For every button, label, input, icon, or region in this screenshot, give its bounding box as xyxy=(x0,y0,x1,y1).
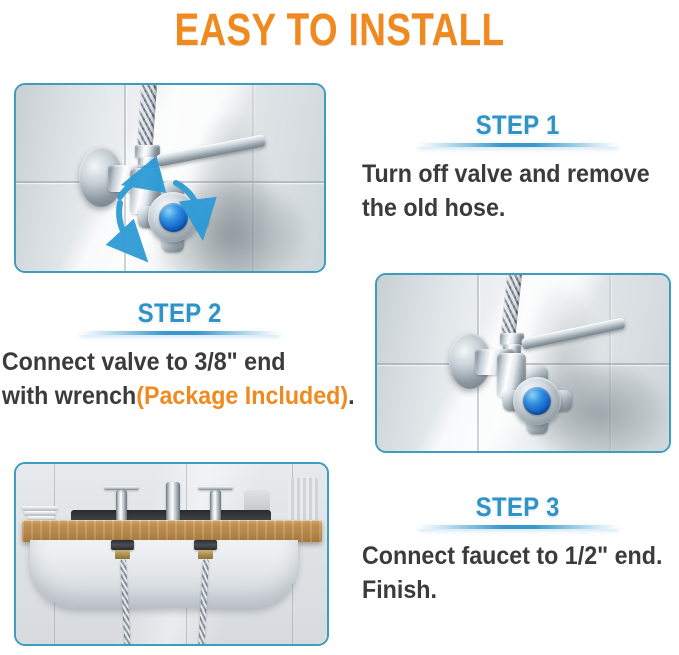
step-2-photo xyxy=(375,273,671,453)
step-2-body: Connect valve to 3/8" end with wrench(Pa… xyxy=(0,346,335,413)
stacked-plates xyxy=(24,511,56,515)
handle-blue-cap xyxy=(523,387,551,415)
connector-right xyxy=(194,540,217,550)
step-2-body-text: with wrench xyxy=(2,382,136,410)
connector-right-brass-nut xyxy=(198,550,213,559)
step-2-body-line-1: Connect valve to 3/8" end xyxy=(2,346,335,380)
step-3-photo xyxy=(14,462,329,646)
step-3-underline xyxy=(418,525,618,529)
step-3-text-block: STEP 3 Connect faucet to 1/2" end. Finis… xyxy=(362,492,674,607)
step-1-body-line-1: Turn off valve and remove xyxy=(362,158,652,192)
rotation-arrow-up xyxy=(120,179,144,197)
step-1-label-wrap: STEP 1 xyxy=(362,110,674,141)
connector-left xyxy=(111,540,134,550)
wooden-countertop xyxy=(22,520,322,542)
stacked-plates xyxy=(22,506,58,510)
step-1-body-line-2: the old hose. xyxy=(362,192,652,226)
step-2-label: STEP 2 xyxy=(138,298,222,329)
step-3-body-line-1: Connect faucet to 1/2" end. xyxy=(362,540,652,574)
faucet-left-body xyxy=(116,490,127,522)
page-title: EASY TO INSTALL xyxy=(61,4,618,56)
rotation-arrows xyxy=(16,85,326,273)
step-1-label: STEP 1 xyxy=(476,110,560,141)
step-3-body: Connect faucet to 1/2" end. Finish. xyxy=(362,540,652,607)
step-1-body: Turn off valve and remove the old hose. xyxy=(362,158,652,225)
faucet-left-cross-handle xyxy=(104,486,139,490)
faucet-right-body xyxy=(210,490,221,522)
sink-basin xyxy=(30,540,298,608)
rotation-arrow-right xyxy=(176,183,200,217)
step-3-body-line-2: Finish. xyxy=(362,574,652,608)
connector-left-brass-nut xyxy=(115,550,130,559)
step-3-label: STEP 3 xyxy=(476,492,560,523)
faucet-right-cross-handle xyxy=(198,486,233,490)
step-3-label-wrap: STEP 3 xyxy=(362,492,674,523)
step-2-text-block: STEP 2 Connect valve to 3/8" end with wr… xyxy=(0,298,360,413)
step-1-photo xyxy=(14,83,326,273)
step-1-underline xyxy=(418,143,618,147)
rotation-arrow-down xyxy=(119,203,132,245)
faucet-spout xyxy=(166,482,180,524)
valve-handle xyxy=(505,369,575,437)
step-2-label-wrap: STEP 2 xyxy=(0,298,360,329)
step-2-body-period: . xyxy=(348,382,354,410)
countertop-grain xyxy=(22,520,322,542)
step-2-underline xyxy=(80,331,280,335)
step-2-package-included-highlight: (Package Included) xyxy=(136,382,348,410)
step-2-body-line-2: with wrench(Package Included). xyxy=(2,380,335,414)
step-1-text-block: STEP 1 Turn off valve and remove the old… xyxy=(362,110,674,225)
